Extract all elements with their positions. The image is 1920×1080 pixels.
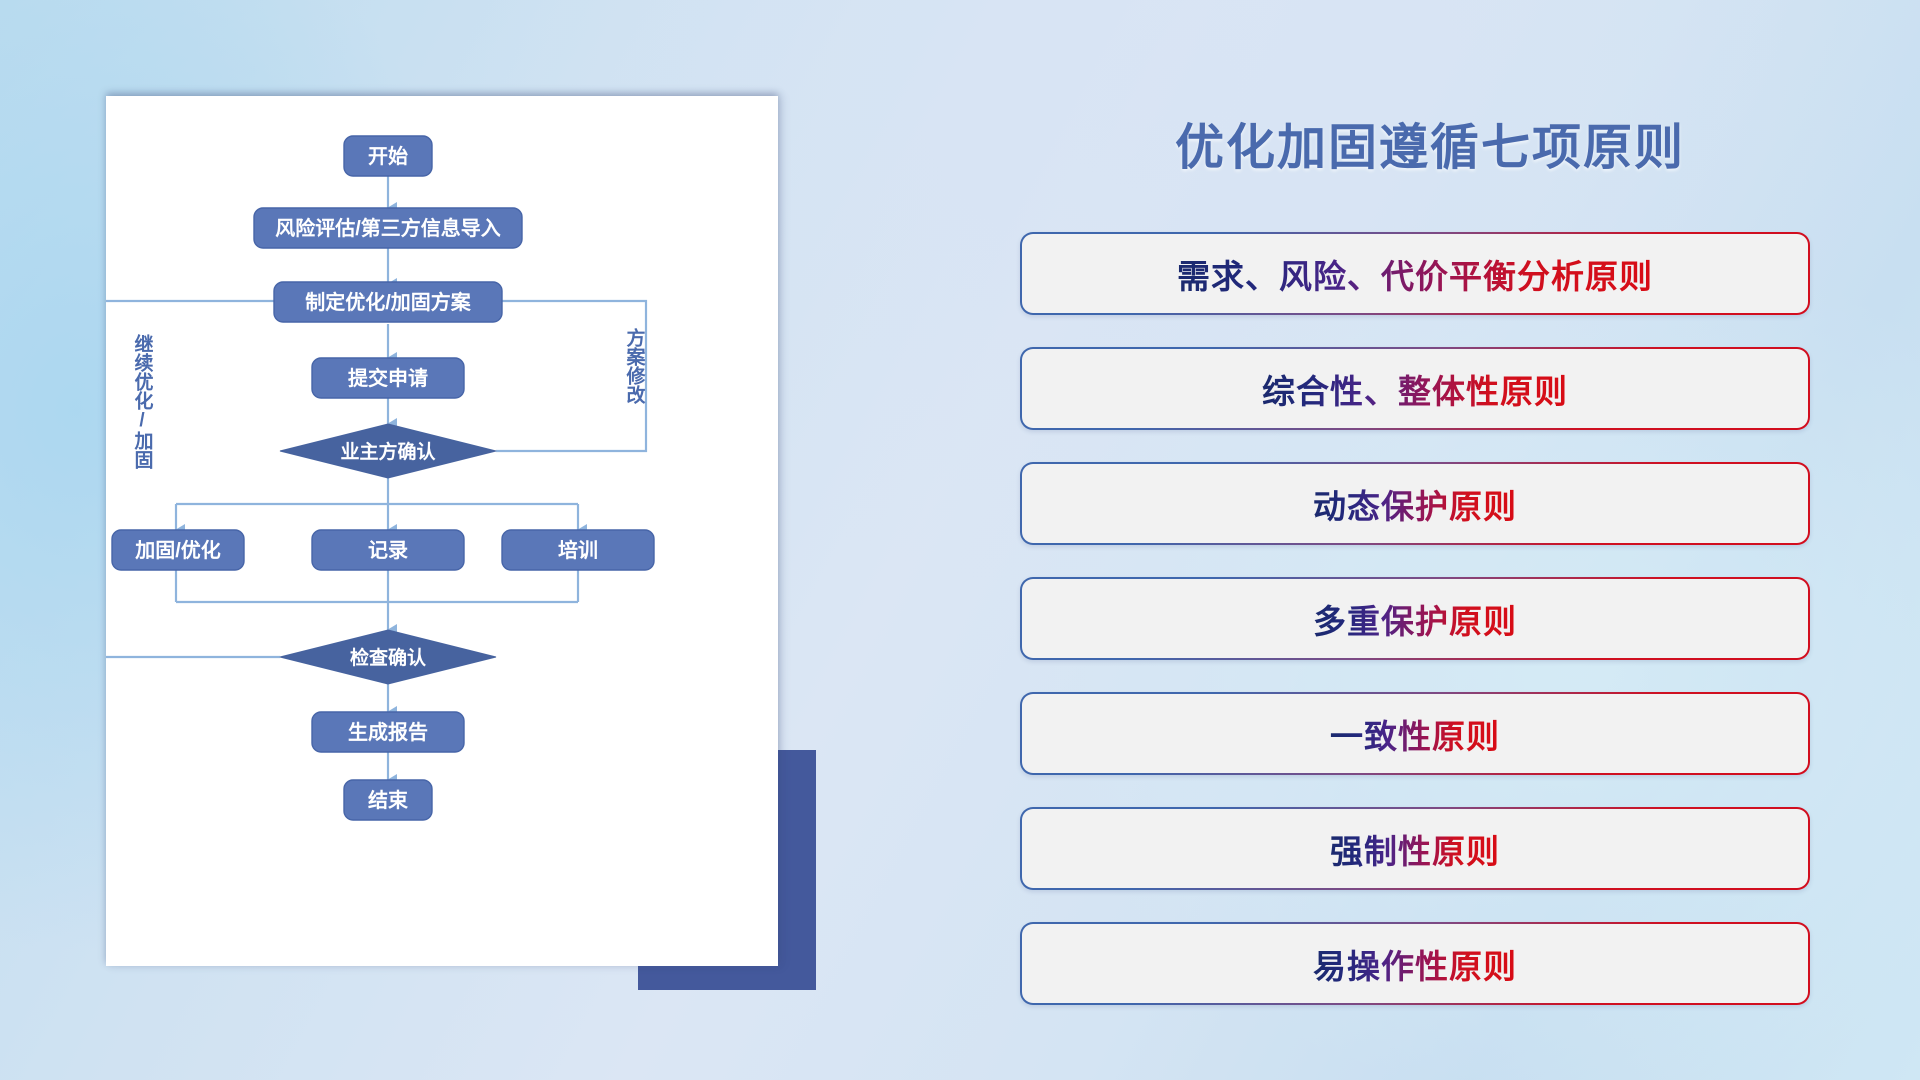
flow-node-label: 记录: [368, 539, 408, 562]
flow-node-label: 检查确认: [350, 646, 426, 669]
principle-item-surface: 需求、风险、代价平衡分析原则: [1022, 234, 1808, 313]
principle-label: 易操作性原则: [1313, 940, 1517, 988]
flow-node-label: 开始: [368, 144, 408, 168]
flow-node-check-confirm[interactable]: 检查确认: [280, 630, 496, 684]
principle-item-1[interactable]: 需求、风险、代价平衡分析原则: [1020, 232, 1810, 315]
principle-item-4[interactable]: 多重保护原则: [1020, 577, 1810, 660]
flow-node-record[interactable]: 记录: [312, 530, 464, 570]
flow-node-owner-confirm[interactable]: 业主方确认: [280, 424, 496, 478]
edge-label-revise: 方案修改: [624, 327, 647, 405]
flow-node-submit[interactable]: 提交申请: [312, 358, 464, 398]
flowchart-svg: 开始 风险评估/第三方信息导入 制定优化/加固方案 提交申请 业主方确认: [106, 96, 778, 966]
page-title: 优化加固遵循七项原则: [1020, 108, 1840, 179]
flow-node-label: 业主方确认: [340, 440, 435, 463]
flow-node-assess[interactable]: 风险评估/第三方信息导入: [254, 208, 522, 248]
edge-label-continue: 继续优化/加固: [132, 333, 155, 470]
principle-item-6[interactable]: 强制性原则: [1020, 807, 1810, 890]
flow-node-label: 制定优化/加固方案: [305, 290, 472, 314]
flow-node-label: 结束: [368, 788, 409, 812]
principle-item-5[interactable]: 一致性原则: [1020, 692, 1810, 775]
principle-label: 综合性、整体性原则: [1262, 365, 1568, 413]
flow-node-end[interactable]: 结束: [344, 780, 432, 820]
principle-label: 强制性原则: [1330, 825, 1500, 873]
principle-item-surface: 动态保护原则: [1022, 464, 1808, 543]
principle-label: 需求、风险、代价平衡分析原则: [1177, 250, 1653, 298]
principle-item-2[interactable]: 综合性、整体性原则: [1020, 347, 1810, 430]
flow-node-label: 风险评估/第三方信息导入: [275, 216, 501, 240]
principle-item-surface: 强制性原则: [1022, 809, 1808, 888]
principle-item-3[interactable]: 动态保护原则: [1020, 462, 1810, 545]
principle-list: 需求、风险、代价平衡分析原则 综合性、整体性原则 动态保护原则 多重保护原则: [1020, 232, 1810, 1037]
flow-node-report[interactable]: 生成报告: [312, 712, 464, 752]
principle-label: 一致性原则: [1330, 710, 1500, 758]
principle-label: 动态保护原则: [1313, 480, 1517, 528]
flow-node-label: 生成报告: [348, 720, 428, 744]
principle-item-surface: 多重保护原则: [1022, 579, 1808, 658]
principle-item-surface: 综合性、整体性原则: [1022, 349, 1808, 428]
principles-panel: 优化加固遵循七项原则 需求、风险、代价平衡分析原则 综合性、整体性原则 动态保护…: [1020, 0, 1840, 1080]
principle-item-7[interactable]: 易操作性原则: [1020, 922, 1810, 1005]
flow-node-label: 提交申请: [348, 366, 428, 390]
flow-node-label: 加固/优化: [134, 538, 221, 562]
principle-label: 多重保护原则: [1313, 595, 1517, 643]
flow-node-reinforce[interactable]: 加固/优化: [112, 530, 244, 570]
flowchart-panel: 开始 风险评估/第三方信息导入 制定优化/加固方案 提交申请 业主方确认: [0, 0, 880, 1080]
flow-node-plan[interactable]: 制定优化/加固方案: [274, 282, 502, 322]
flowchart-card: 开始 风险评估/第三方信息导入 制定优化/加固方案 提交申请 业主方确认: [106, 96, 778, 966]
flow-node-start[interactable]: 开始: [344, 136, 432, 176]
flow-node-training[interactable]: 培训: [502, 530, 654, 570]
slide-canvas: 开始 风险评估/第三方信息导入 制定优化/加固方案 提交申请 业主方确认: [0, 0, 1920, 1080]
principle-item-surface: 一致性原则: [1022, 694, 1808, 773]
principle-item-surface: 易操作性原则: [1022, 924, 1808, 1003]
flow-node-label: 培训: [558, 538, 598, 562]
